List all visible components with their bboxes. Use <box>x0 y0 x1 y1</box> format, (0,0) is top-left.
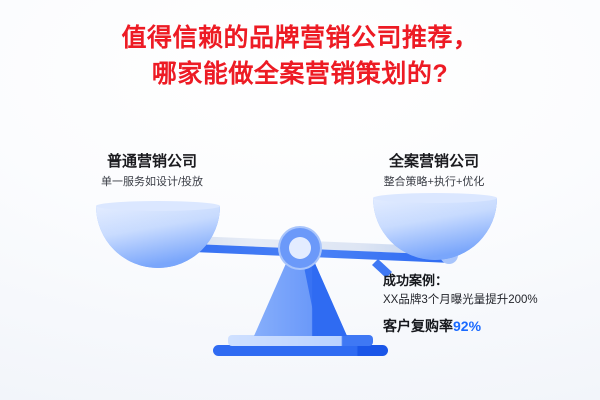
left-pan-bowl <box>96 206 220 268</box>
balance-scale-illustration <box>0 0 600 400</box>
callout-stat: 客户复购率92% <box>383 317 593 336</box>
scale-base-bar <box>213 345 388 356</box>
callout-detail: XX品牌3个月曝光量提升200% <box>383 292 593 308</box>
right-pan-rim <box>373 193 497 203</box>
left-pan-rim <box>96 201 220 211</box>
poster-canvas: 值得信赖的品牌营销公司推荐， 哪家能做全案营销策划的? 普通营销公司 单一服务如… <box>0 0 600 400</box>
callout-heading: 成功案例： <box>383 272 593 290</box>
scale-base-plinth <box>228 335 373 346</box>
success-case-callout: 成功案例： XX品牌3个月曝光量提升200% 客户复购率92% <box>383 272 593 336</box>
pivot-inner-disc <box>289 237 311 259</box>
callout-stat-value: 92% <box>453 318 481 334</box>
callout-stat-label: 客户复购率 <box>383 318 453 334</box>
